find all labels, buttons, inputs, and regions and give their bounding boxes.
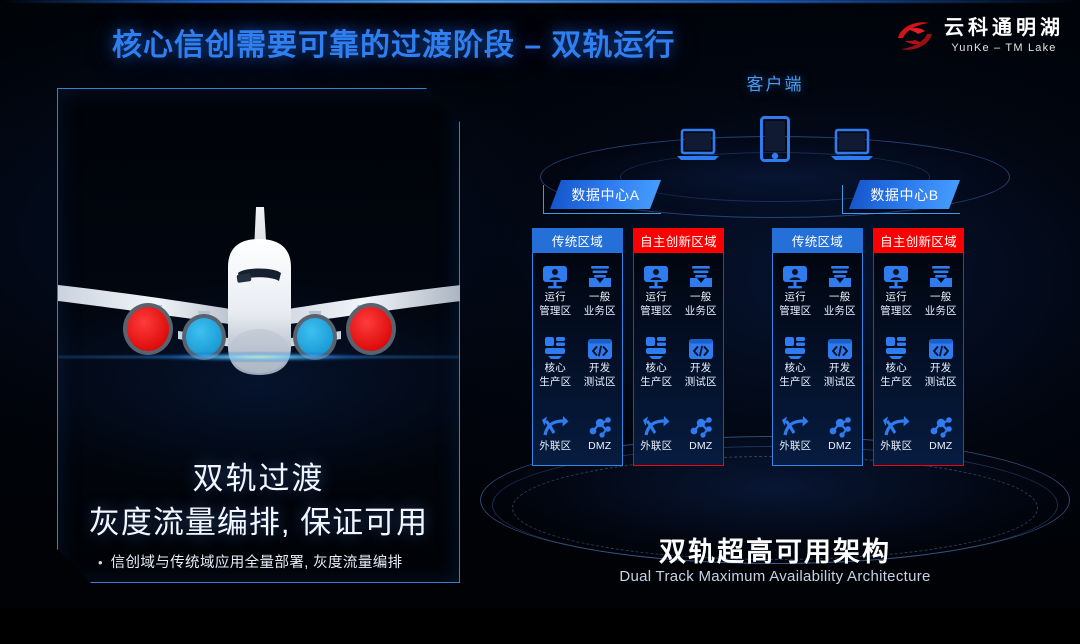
- server-rack-icon: [643, 334, 669, 360]
- client-tier-label: 客户端: [470, 70, 1080, 95]
- server-rack-icon: [542, 334, 568, 360]
- zone-cell[interactable]: 核心 生产区: [533, 324, 578, 395]
- zone-cell[interactable]: 开发 测试区: [818, 324, 863, 395]
- server-rack-icon: [883, 334, 909, 360]
- zone-cell-label-2: 管理区: [539, 305, 571, 317]
- zone-cell-label: 运行: [886, 291, 907, 303]
- zone-cell[interactable]: 运行 管理区: [533, 253, 578, 324]
- laptop-icon: [830, 128, 874, 162]
- zone-cell-label: 开发: [930, 362, 951, 374]
- inbox-tray-icon: [688, 263, 714, 289]
- zone-cell-label: 一般: [829, 291, 850, 303]
- architecture-diagram: 客户端 数据中心A 数据中心B 传统区域: [470, 60, 1080, 608]
- zone-cell-label: 外联区: [779, 440, 811, 452]
- code-window-icon: [928, 334, 954, 360]
- zone-cell[interactable]: 核心 生产区: [874, 324, 919, 395]
- zone-cell-label-2: 生产区: [640, 376, 672, 388]
- zone-cell-label: DMZ: [588, 440, 611, 452]
- zone-cell-label: 外联区: [539, 440, 571, 452]
- monitor-user-icon: [542, 263, 568, 289]
- data-center-group-a: 传统区域 运行 管理区 一般 业务区 核心 生产区: [532, 228, 724, 466]
- zone-cell[interactable]: DMZ: [919, 394, 964, 465]
- zone-cell[interactable]: 开发 测试区: [919, 324, 964, 395]
- tablet-icon: [760, 116, 790, 162]
- zone-cell[interactable]: DMZ: [679, 394, 724, 465]
- zone-cell-grid: 运行 管理区 一般 业务区 核心 生产区 开发: [873, 253, 964, 466]
- zone-cell-label: 核心: [886, 362, 907, 374]
- zone-cell-label: 核心: [785, 362, 806, 374]
- zone-cell[interactable]: DMZ: [818, 394, 863, 465]
- zone-cell[interactable]: 核心 生产区: [773, 324, 818, 395]
- zone-cell-grid: 运行 管理区 一般 业务区 核心 生产区 开发: [772, 253, 863, 466]
- code-window-icon: [688, 334, 714, 360]
- data-center-banner-a: 数据中心A: [543, 180, 661, 209]
- branch-arrows-icon: [642, 412, 670, 438]
- zone-cell-label-2: 管理区: [640, 305, 672, 317]
- zone-columns: 传统区域 运行 管理区 一般 业务区 核心 生产区: [470, 228, 1080, 466]
- zone-cell-label: 核心: [545, 362, 566, 374]
- zone-column-innovation[interactable]: 自主创新区域 运行 管理区 一般 业务区 核心 生: [873, 228, 964, 466]
- data-center-banner-b: 数据中心B: [842, 180, 960, 209]
- laptop-icon: [676, 128, 720, 162]
- zone-column-title: 自主创新区域: [873, 228, 964, 253]
- zone-cell[interactable]: 一般 业务区: [818, 253, 863, 324]
- page-title: 核心信创需要可靠的过渡阶段 – 双轨运行: [112, 20, 675, 64]
- bullet-dot-icon: •: [98, 554, 103, 572]
- branch-arrows-icon: [781, 412, 809, 438]
- zone-column-title: 传统区域: [532, 228, 623, 253]
- architecture-caption-cn: 双轨超高可用架构: [470, 530, 1080, 569]
- monitor-user-icon: [643, 263, 669, 289]
- zone-cell-label: 外联区: [640, 440, 672, 452]
- zone-cell-label-2: 业务区: [685, 305, 717, 317]
- network-nodes-icon: [688, 412, 714, 438]
- zone-cell[interactable]: 外联区: [773, 394, 818, 465]
- panel-heading-primary: 双轨过渡: [58, 453, 459, 498]
- airplane-front-view: [58, 201, 461, 401]
- logo-text-en: YunKe – TM Lake: [951, 43, 1056, 54]
- zone-cell-label-2: 生产区: [880, 376, 912, 388]
- panel-heading-secondary: 灰度流量编排, 保证可用: [58, 497, 459, 542]
- branch-arrows-icon: [541, 412, 569, 438]
- zone-column-traditional[interactable]: 传统区域 运行 管理区 一般 业务区 核心 生产区: [772, 228, 863, 466]
- network-nodes-icon: [587, 412, 613, 438]
- data-center-group-b: 传统区域 运行 管理区 一般 业务区 核心 生产区: [772, 228, 964, 466]
- zone-cell[interactable]: 外联区: [634, 394, 679, 465]
- zone-cell-label: 开发: [829, 362, 850, 374]
- zone-cell-label: 核心: [646, 362, 667, 374]
- zone-cell-grid: 运行 管理区 一般 业务区 核心 生产区 开发: [532, 253, 623, 466]
- inbox-tray-icon: [827, 263, 853, 289]
- bullet-dot-icon: •: [98, 614, 103, 632]
- zone-cell[interactable]: 核心 生产区: [634, 324, 679, 395]
- inbox-tray-icon: [587, 263, 613, 289]
- list-item-label: 信创域与传统域应用全量部署, 灰度流量编排: [111, 554, 403, 572]
- zone-cell-grid: 运行 管理区 一般 业务区 核心 生产区 开发: [633, 253, 724, 466]
- server-rack-icon: [782, 334, 808, 360]
- swoosh-logo-icon: [895, 18, 935, 54]
- zone-cell-label: 开发: [690, 362, 711, 374]
- zone-cell-label-2: 生产区: [779, 376, 811, 388]
- code-window-icon: [587, 334, 613, 360]
- network-nodes-icon: [928, 412, 954, 438]
- zone-cell-label-2: 管理区: [880, 305, 912, 317]
- zone-cell-label: 运行: [646, 291, 667, 303]
- zone-cell-label-2: 业务区: [925, 305, 957, 317]
- zone-cell[interactable]: 开发 测试区: [578, 324, 623, 395]
- list-item-label: 4个季度的全业务周期后, 确保信创可用: [111, 614, 367, 632]
- zone-cell[interactable]: 一般 业务区: [679, 253, 724, 324]
- list-item: • 信创域与传统域应用全量部署, 灰度流量编排: [98, 554, 443, 572]
- branch-arrows-icon: [882, 412, 910, 438]
- zone-cell-label: DMZ: [689, 440, 712, 452]
- zone-column-title: 传统区域: [772, 228, 863, 253]
- zone-cell-label-2: 测试区: [925, 376, 957, 388]
- zone-cell-label: 一般: [589, 291, 610, 303]
- zone-cell-label-2: 生产区: [539, 376, 571, 388]
- zone-cell-label: 开发: [589, 362, 610, 374]
- monitor-user-icon: [782, 263, 808, 289]
- brand-logo: 云科通明湖 YunKe – TM Lake: [895, 18, 1064, 54]
- data-center-label: 数据中心A: [571, 185, 639, 205]
- data-center-label: 数据中心B: [870, 185, 938, 205]
- monitor-user-icon: [883, 263, 909, 289]
- zone-cell-label: 一般: [930, 291, 951, 303]
- zone-cell[interactable]: 一般 业务区: [578, 253, 623, 324]
- zone-cell-label-2: 测试区: [824, 376, 856, 388]
- zone-cell-label-2: 业务区: [584, 305, 616, 317]
- code-window-icon: [827, 334, 853, 360]
- zone-cell[interactable]: 外联区: [874, 394, 919, 465]
- architecture-caption-en: Dual Track Maximum Availability Architec…: [470, 568, 1080, 585]
- zone-cell-label: 运行: [545, 291, 566, 303]
- zone-cell[interactable]: 开发 测试区: [679, 324, 724, 395]
- zone-cell-label-2: 管理区: [779, 305, 811, 317]
- zone-column-traditional[interactable]: 传统区域 运行 管理区 一般 业务区 核心 生产区: [532, 228, 623, 466]
- inbox-tray-icon: [928, 263, 954, 289]
- zone-cell[interactable]: 运行 管理区: [634, 253, 679, 324]
- logo-text-cn: 云科通明湖: [944, 18, 1064, 38]
- list-item: • 4个季度的全业务周期后, 确保信创可用: [98, 614, 443, 632]
- zone-cell[interactable]: 运行 管理区: [874, 253, 919, 324]
- network-nodes-icon: [827, 412, 853, 438]
- left-feature-panel: 双轨过渡 灰度流量编排, 保证可用 • 信创域与传统域应用全量部署, 灰度流量编…: [57, 88, 460, 583]
- zone-cell-label-2: 业务区: [824, 305, 856, 317]
- zone-cell-label: DMZ: [929, 440, 952, 452]
- zone-cell[interactable]: DMZ: [578, 394, 623, 465]
- zone-cell-label: DMZ: [828, 440, 851, 452]
- zone-cell[interactable]: 运行 管理区: [773, 253, 818, 324]
- zone-cell-label: 运行: [785, 291, 806, 303]
- top-accent-line: [0, 0, 1080, 3]
- zone-cell-label: 一般: [690, 291, 711, 303]
- zone-cell-label: 外联区: [880, 440, 912, 452]
- zone-cell[interactable]: 一般 业务区: [919, 253, 964, 324]
- zone-cell-label-2: 测试区: [584, 376, 616, 388]
- client-device-group: [470, 116, 1080, 162]
- zone-column-title: 自主创新区域: [633, 228, 724, 253]
- zone-cell[interactable]: 外联区: [533, 394, 578, 465]
- zone-column-innovation[interactable]: 自主创新区域 运行 管理区 一般 业务区 核心 生: [633, 228, 724, 466]
- zone-cell-label-2: 测试区: [685, 376, 717, 388]
